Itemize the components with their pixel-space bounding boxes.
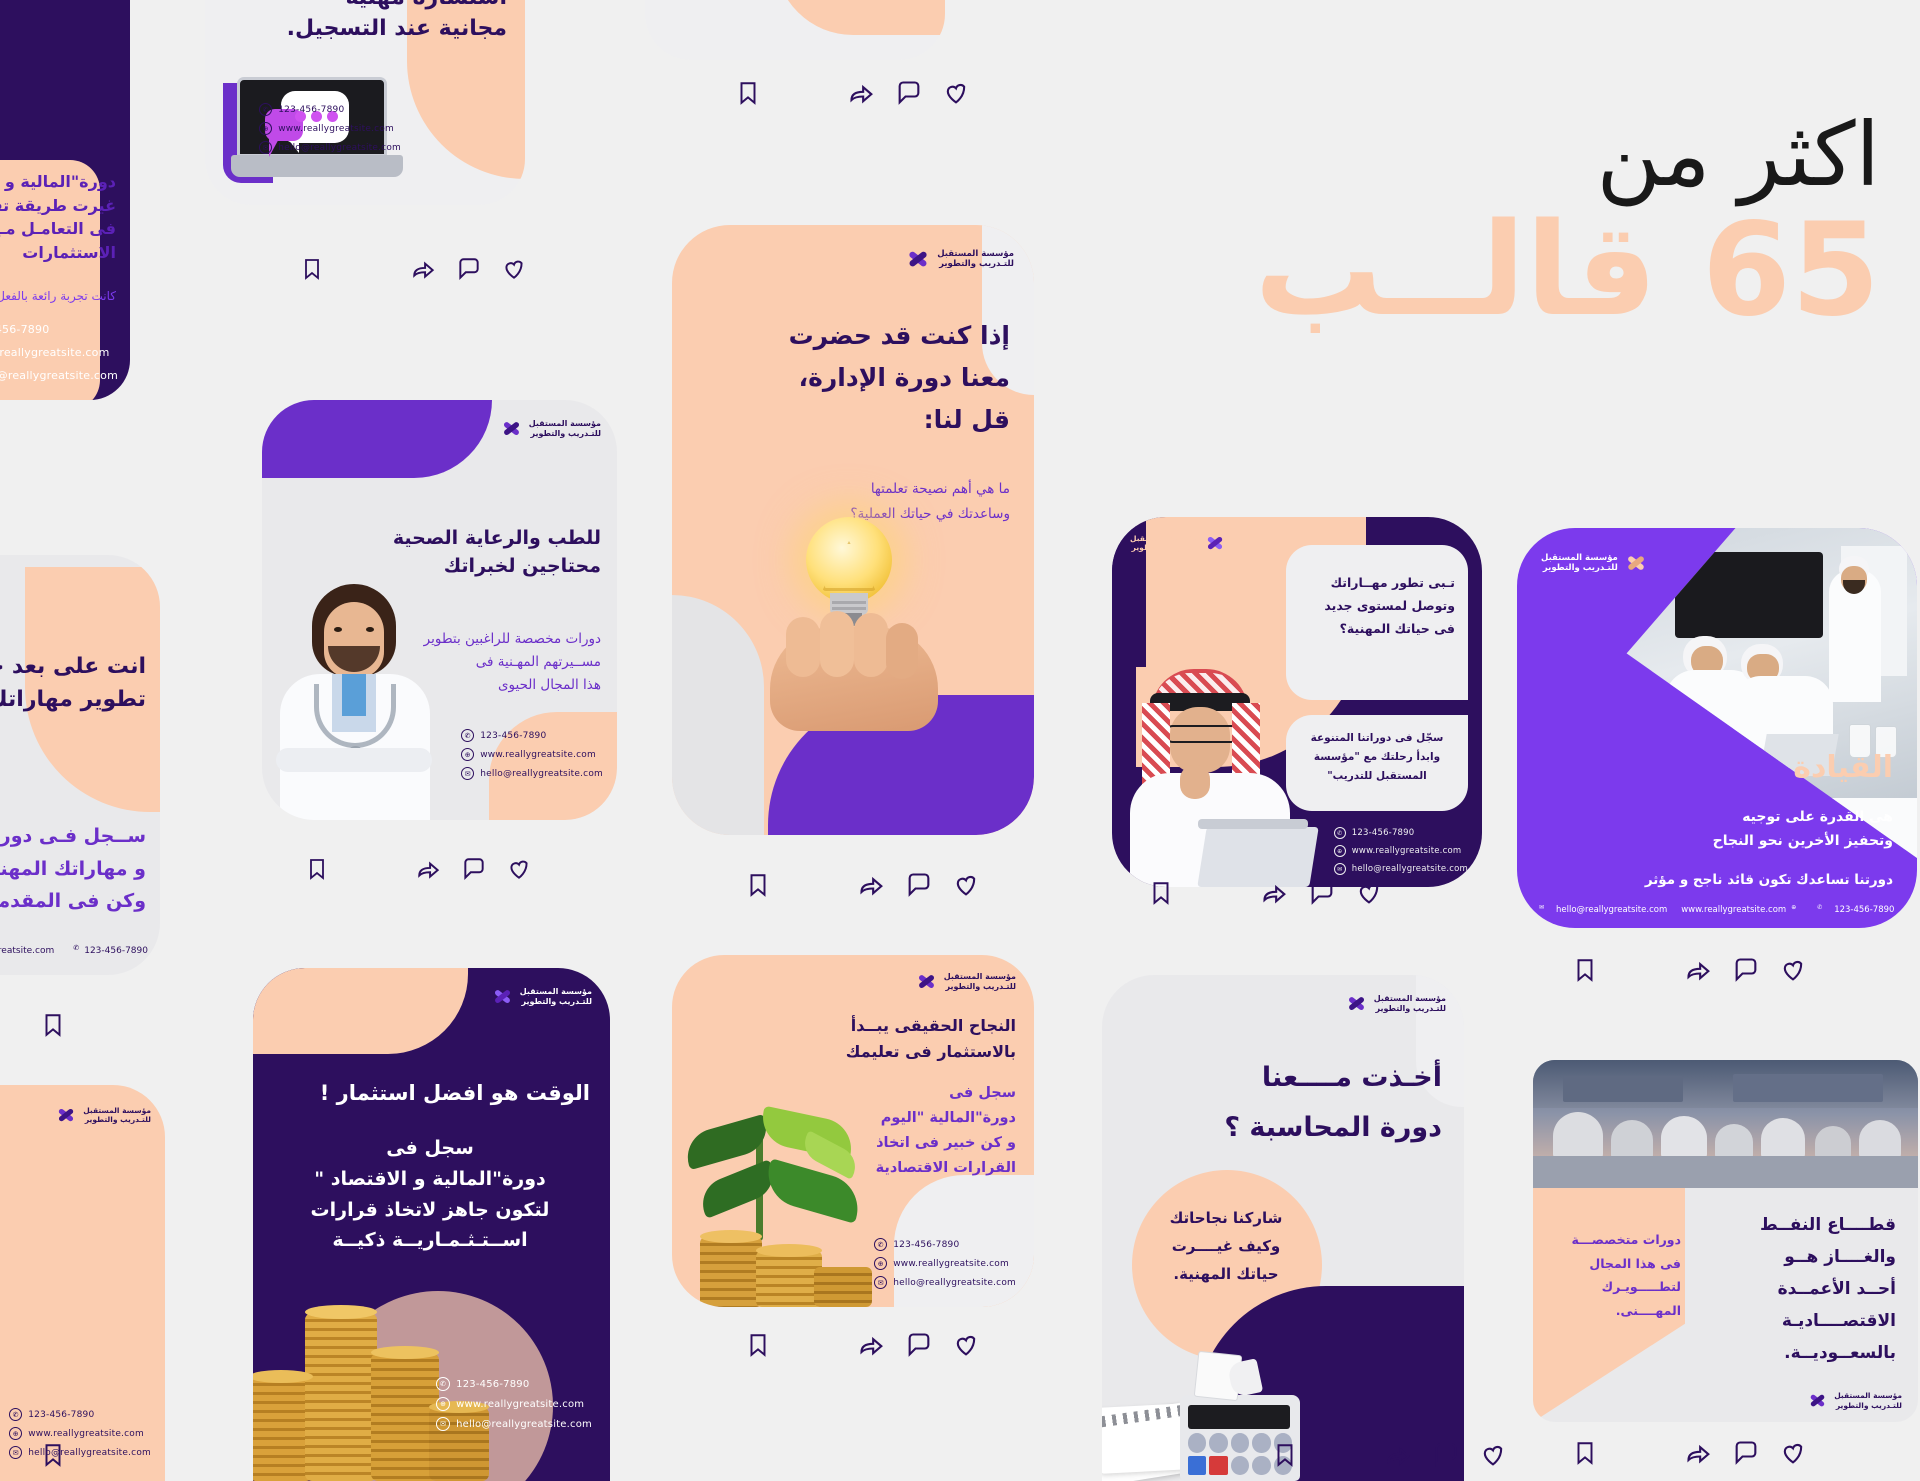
healthcare-heading-line-2: محتاجين لخبراتك	[281, 553, 601, 581]
social-action-bar	[300, 255, 528, 283]
plant-coins-photo	[672, 1047, 907, 1307]
headline-line-1: اكثر من	[1160, 110, 1880, 200]
bookmark-icon[interactable]	[305, 855, 329, 883]
mgmt-heading-line-1: إذا كنت قد حضرت	[700, 315, 1010, 357]
logo-line-2: للتـدريب والتطوير	[520, 997, 592, 1007]
mail-icon: ✉	[461, 767, 474, 780]
leadership-card[interactable]: مؤسسة المستقبل للتـدريب والتطوير القيادة…	[1517, 528, 1917, 928]
bubble1-line-2: وتوصل لمستوى جديد	[1297, 594, 1455, 617]
x-cross-bandage-icon	[492, 986, 513, 1007]
bookmark-icon[interactable]	[1148, 878, 1174, 908]
free-heading-line-1: استشارة مهنية	[222, 0, 507, 14]
logo-line-2: للتـدريب والتطوير	[1834, 1401, 1902, 1410]
social-action-bar	[40, 1010, 135, 1040]
social-action-bar	[1272, 1440, 1508, 1470]
brand-logo: مؤسسة المستقبل للتـدريب والتطوير	[1808, 1391, 1902, 1410]
free-heading-line-2: مجانية عند التسجيل.	[222, 14, 507, 45]
comment-icon[interactable]	[1431, 1441, 1461, 1469]
phone-icon: ✆	[461, 729, 474, 742]
globe-icon: ⊕	[1334, 845, 1346, 857]
bookmark-icon[interactable]	[745, 1330, 771, 1360]
phone-icon: ✆	[436, 1377, 450, 1391]
x-cross-bandage-icon	[1625, 552, 1647, 574]
lightbulb-illustration	[760, 517, 950, 737]
x-cross-bandage-icon	[1808, 1391, 1827, 1410]
accounting-body-line-2: وكيف غيــــرت	[1146, 1233, 1306, 1261]
doctor-photo	[270, 580, 440, 820]
mail-icon: ✉	[259, 141, 272, 154]
x-cross-bandage-icon	[906, 247, 930, 271]
contact-phone[interactable]: ✆ 123-456-7890	[0, 321, 118, 338]
testimonial-card[interactable]: دورة"المالية و الاقتصاد" غيرت طريقة تفكي…	[0, 0, 130, 400]
brand-logo: مؤسسة المستقبل للتـدريب والتطوير	[56, 1105, 151, 1125]
globe-icon: ⊕	[874, 1257, 887, 1270]
share-icon[interactable]	[1684, 1439, 1714, 1467]
oil-heading-line-3: أحــد الأعمــدة	[1711, 1274, 1896, 1306]
phone-icon: ✆	[1817, 904, 1829, 916]
logo-line-1: مؤسسة المستقبل	[529, 419, 601, 429]
globe-icon: ⊕	[1791, 904, 1803, 916]
contact-email[interactable]: ✉ hello@reallygreatsite.com	[259, 141, 401, 154]
social-action-bar	[1148, 878, 1384, 908]
contact-phone[interactable]: ✆ 123-456-7890	[874, 1238, 1016, 1251]
x-cross-bandage-icon	[916, 971, 937, 992]
skills-body-line-2: و مهاراتك المهنية	[0, 853, 146, 886]
phone-icon: ✆	[259, 103, 272, 116]
bookmark-icon[interactable]	[300, 255, 324, 283]
contact-phone[interactable]: ✆ 123-456-7890	[259, 103, 401, 116]
oil-heading-line-4: الاقتصــــاديـة	[1711, 1306, 1896, 1338]
bookmark-icon[interactable]	[1572, 1438, 1598, 1468]
mail-icon: ✉	[436, 1417, 450, 1431]
oil-body-line-2: فى هذا المجال	[1553, 1252, 1681, 1276]
showcase-canvas: اكثر من 65 قالــب دورة"المالية و الاقتصا…	[0, 0, 1920, 1481]
leadership-title: القيادة	[1693, 750, 1893, 786]
globe-icon: ⊕	[436, 1397, 450, 1411]
brand-logo: مؤسسة المستقبل للتـدريب والتطوير	[492, 986, 592, 1007]
comment-icon[interactable]	[1307, 879, 1337, 907]
accounting-heading-line-1: أخـذت مــــعنا	[1130, 1053, 1442, 1103]
investment-heading: الوقت هو افضل استثمار !	[270, 1081, 590, 1105]
contact-website[interactable]: www.reallygreatsite.com ⊕	[1681, 904, 1803, 916]
refinery-photo	[1533, 1060, 1918, 1188]
like-icon[interactable]	[1354, 879, 1384, 907]
globe-icon: ⊕	[461, 748, 474, 761]
share-icon[interactable]	[1260, 879, 1290, 907]
oil-body-line-1: دورات متخصصـــة	[1553, 1228, 1681, 1252]
logo-line-2: للتـدريب والتطوير	[937, 259, 1014, 269]
bookmark-icon[interactable]	[1272, 1440, 1298, 1470]
bookmark-icon[interactable]	[1572, 955, 1598, 985]
bubble2-line-1: سجّل فى دوراتنا المتنوعة	[1296, 729, 1458, 748]
logo-line-1: مؤسسة المستقبل	[83, 1106, 151, 1115]
phone-icon: ✆	[9, 1408, 22, 1421]
skills-heading-line-1: انت على بعد خطوة من	[0, 650, 146, 683]
accounting-heading-line-2: دورة المحاسبة ؟	[1130, 1103, 1442, 1153]
contact-website[interactable]: ⊕ www.reallygreatsite.com	[461, 748, 603, 761]
comment-icon[interactable]	[904, 1331, 934, 1359]
contact-website[interactable]: ⊕ www.reallygreatsite.com	[436, 1397, 592, 1411]
edu-heading-line-1: النجاح الحقيقى يبــدأ	[776, 1013, 1016, 1039]
oil-gas-sector-card[interactable]: قطــــاع النفــط والغــــاز هــو أحــد ا…	[1533, 1060, 1918, 1422]
education-investment-card[interactable]: مؤسسة المستقبل للتـدريب والتطوير النجاح …	[672, 955, 1034, 1307]
bookmark-icon[interactable]	[735, 78, 761, 108]
leadership-footer: دورتنا تساعدك تكون قائد ناجح و مؤثر	[1543, 872, 1893, 888]
logo-line-1: مؤسسة المستقبل	[944, 972, 1016, 982]
comment-icon[interactable]	[894, 79, 924, 107]
brand-logo: مؤسسة المستقبل للتـدريب والتطوير	[1130, 533, 1225, 553]
x-cross-bandage-icon	[56, 1105, 76, 1125]
social-action-bar	[40, 1440, 135, 1470]
logo-line-1: مؤسسة المستقبل	[937, 249, 1014, 259]
x-cross-bandage-icon	[501, 418, 522, 439]
contact-phone[interactable]: ✆ 123-456-7890	[9, 1408, 151, 1421]
healthcare-card[interactable]: مؤسسة المستقبل للتـدريب والتطوير للطب وا…	[262, 400, 617, 820]
accounting-course-card[interactable]: مؤسسة المستقبل للتـدريب والتطوير أخـذت م…	[1102, 975, 1464, 1481]
oil-heading-line-1: قطــــاع النفــط	[1711, 1210, 1896, 1242]
logo-line-2: للتـدريب والتطوير	[529, 429, 601, 439]
oil-body-line-3: لتطـــــويـرك	[1553, 1275, 1681, 1299]
share-icon[interactable]	[847, 79, 877, 107]
healthcare-heading-line-1: للطب والرعاية الصحية	[281, 525, 601, 553]
contact-email[interactable]: ✉ hello@reallygreatsite.com	[461, 767, 603, 780]
mail-icon: ✉	[9, 1446, 22, 1459]
comment-icon[interactable]	[1731, 956, 1761, 984]
bubble2-line-3: المستقبل للتدريب"	[1296, 767, 1458, 786]
logo-line-2: للتـدريب والتطوير	[1541, 563, 1618, 573]
contact-phone[interactable]: ✆ 123-456-7890	[66, 944, 148, 957]
brand-logo: مؤسسة المستقبل للتـدريب والتطوير	[906, 247, 1014, 271]
investment-body-line-2: دورة"المالية و الاقتصاد "	[260, 1164, 600, 1195]
accounting-body-line-1: شاركنا نجاحاتك	[1146, 1205, 1306, 1233]
testimonial-heading: دورة"المالية و الاقتصاد" غيرت طريقة تفكي…	[0, 170, 116, 265]
share-icon[interactable]	[410, 256, 438, 282]
brand-logo: مؤسسة المستقبل للتـدريب والتطوير	[916, 971, 1016, 992]
contact-website[interactable]: ⊕ www.reallygreatsite.com	[259, 122, 401, 135]
phone-icon: ✆	[1334, 827, 1346, 839]
like-icon[interactable]	[951, 871, 981, 899]
like-icon[interactable]	[1478, 1441, 1508, 1469]
contact-email[interactable]: ✉ hello@reallygreatsite.com	[436, 1417, 592, 1431]
share-icon[interactable]	[415, 856, 443, 882]
logo-line-2: للتـدريب والتطوير	[1374, 1004, 1446, 1014]
headline-line-2: 65 قالــب	[1160, 204, 1880, 338]
contact-phone[interactable]: ✆ 123-456-7890	[436, 1377, 592, 1391]
x-cross-bandage-icon	[1346, 993, 1367, 1014]
mgmt-heading-line-3: قل لنا:	[700, 399, 1010, 441]
comment-icon[interactable]	[1731, 1439, 1761, 1467]
share-icon[interactable]	[1684, 956, 1714, 984]
logo-line-2: للتـدريب والتطوير	[944, 982, 1016, 992]
social-action-bar	[745, 870, 981, 900]
comment-icon[interactable]	[455, 256, 483, 282]
management-course-card[interactable]: مؤسسة المستقبل للتـدريب والتطوير إذا كنت…	[672, 225, 1034, 835]
contact-email[interactable]: ✉ hello@reallygreatsite.com	[0, 367, 118, 384]
investment-body-line-3: لتكون جاهز لاتخاذ قرارات	[260, 1195, 600, 1226]
coin-stacks-photo	[253, 1251, 533, 1481]
mgmt-body-line-1: ما هي أهم نصيحة تعلمتها	[710, 477, 1010, 502]
contact-phone[interactable]: ✆ 123-456-7890	[1334, 827, 1468, 839]
businessman-photo	[1124, 669, 1314, 887]
share-icon[interactable]	[857, 1331, 887, 1359]
investment-time-card[interactable]: مؤسسة المستقبل للتـدريب والتطوير الوقت ه…	[253, 968, 610, 1481]
x-cross-bandage-icon	[1205, 533, 1225, 553]
share-icon[interactable]	[857, 871, 887, 899]
brand-logo: مؤسسة المستقبل للتـدريب والتطوير	[1346, 993, 1446, 1014]
contact-website[interactable]: www.reallygreatsite.com	[0, 946, 54, 956]
contact-website[interactable]: ⊕ www.reallygreatsite.com	[0, 344, 118, 361]
investment-body-line-1: سجل فى	[260, 1133, 600, 1164]
leadership-body-line-1: هى القدرة على توجيه	[1683, 806, 1893, 830]
skills-body-line-1: ســجل فـى دوراتنا	[0, 820, 146, 853]
like-icon[interactable]	[951, 1331, 981, 1359]
phone-icon: ✆	[874, 1238, 887, 1251]
oil-body-line-4: المهــــنى.	[1553, 1299, 1681, 1323]
mail-icon: ✉	[874, 1276, 887, 1289]
logo-line-1: مؤسسة المستقبل	[1374, 994, 1446, 1004]
bubble2-line-2: وابدأ رحلتك مع "مؤسسة	[1296, 748, 1458, 767]
page-title: اكثر من 65 قالــب	[1160, 110, 1880, 338]
mail-icon: ✉	[1539, 904, 1551, 916]
like-icon[interactable]	[941, 79, 971, 107]
free-registration-heading: استشارة مهنية مجانية عند التسجيل.	[222, 0, 507, 45]
brand-logo: مؤسسة المستقبل للتـدريب والتطوير	[501, 418, 601, 439]
contact-email[interactable]: ✉ hello@reallygreatsite.com	[1539, 904, 1667, 916]
social-action-bar	[1572, 955, 1808, 985]
mgmt-heading-line-2: معنا دورة الإدارة،	[700, 357, 1010, 399]
testimonial-subtext: كانت تجربة رائعة بالفعل	[0, 288, 116, 305]
social-action-bar	[745, 1330, 981, 1360]
skills-body-line-3: وكن فى المقدمة	[0, 885, 146, 918]
accounting-body-line-3: حياتك المهنية.	[1146, 1261, 1306, 1289]
contact-phone[interactable]: ✆ 123-456-7890	[1817, 904, 1894, 916]
skills-upgrade-card[interactable]: مؤسسة المستقبل للتـدريب والتطوير تـبى تط…	[1112, 517, 1482, 887]
like-icon[interactable]	[1778, 1439, 1808, 1467]
like-icon[interactable]	[500, 256, 528, 282]
globe-icon: ⊕	[259, 122, 272, 135]
comment-icon[interactable]	[460, 856, 488, 882]
social-action-bar	[1572, 1438, 1808, 1468]
leadership-body-line-2: وتحفيز الأخرين نحو النجاح	[1683, 830, 1893, 854]
brand-logo: مؤسسة المستقبل للتـدريب والتطوير	[1541, 552, 1647, 574]
computer-it-card[interactable]: مؤسسة المستقبل للتـدريب والتطوير التكنول…	[0, 1085, 165, 1481]
logo-line-2: للتـدريب والتطوير	[1130, 543, 1198, 552]
contact-phone[interactable]: ✆ 123-456-7890	[461, 729, 603, 742]
contact-website[interactable]: ⊕ www.reallygreatsite.com	[9, 1427, 151, 1440]
like-icon[interactable]	[505, 856, 533, 882]
oil-heading-line-5: بالسعــوديــة.	[1711, 1338, 1896, 1370]
contact-website[interactable]: ⊕ www.reallygreatsite.com	[1334, 845, 1468, 857]
skills-development-card[interactable]: انت على بعد خطوة من تطوير مهاراتك المهني…	[0, 555, 160, 975]
phone-icon: ✆	[66, 944, 79, 957]
bookmark-icon[interactable]	[745, 870, 771, 900]
contact-email[interactable]: ✉ hello@reallygreatsite.com	[1334, 863, 1468, 875]
contact-email[interactable]: ✉ hello@reallygreatsite.com	[874, 1276, 1016, 1289]
comment-icon[interactable]	[904, 871, 934, 899]
bubble1-line-1: تـبى تطور مهــاراتك	[1297, 571, 1455, 594]
contact-website[interactable]: ⊕ www.reallygreatsite.com	[874, 1257, 1016, 1270]
social-action-bar	[735, 78, 971, 108]
bookmark-icon[interactable]	[40, 1440, 66, 1470]
social-action-bar	[305, 855, 533, 883]
logo-line-2: للتـدريب والتطوير	[83, 1115, 151, 1124]
logo-line-1: مؤسسة المستقبل	[1541, 553, 1618, 563]
oil-heading-line-2: والغــــاز هــو	[1711, 1242, 1896, 1274]
logo-line-1: مؤسسة المستقبل	[1130, 534, 1198, 543]
share-icon[interactable]	[1384, 1441, 1414, 1469]
skills-heading-line-2: تطوير مهاراتك المهنية	[0, 683, 146, 716]
bookmark-icon[interactable]	[40, 1010, 66, 1040]
like-icon[interactable]	[1778, 956, 1808, 984]
mail-icon: ✉	[1334, 863, 1346, 875]
bubble1-line-3: فى حياتك المهنية؟	[1297, 617, 1455, 640]
logo-line-1: مؤسسة المستقبل	[1834, 1391, 1902, 1400]
conversation-card[interactable]: مؤسسة المستقبل للتـدريب والتطوير	[645, 0, 945, 60]
logo-line-1: مؤسسة المستقبل	[520, 987, 592, 997]
free-registration-card[interactable]: استشارة مهنية مجانية عند التسجيل. ✆ 123-…	[205, 0, 525, 205]
globe-icon: ⊕	[9, 1427, 22, 1440]
